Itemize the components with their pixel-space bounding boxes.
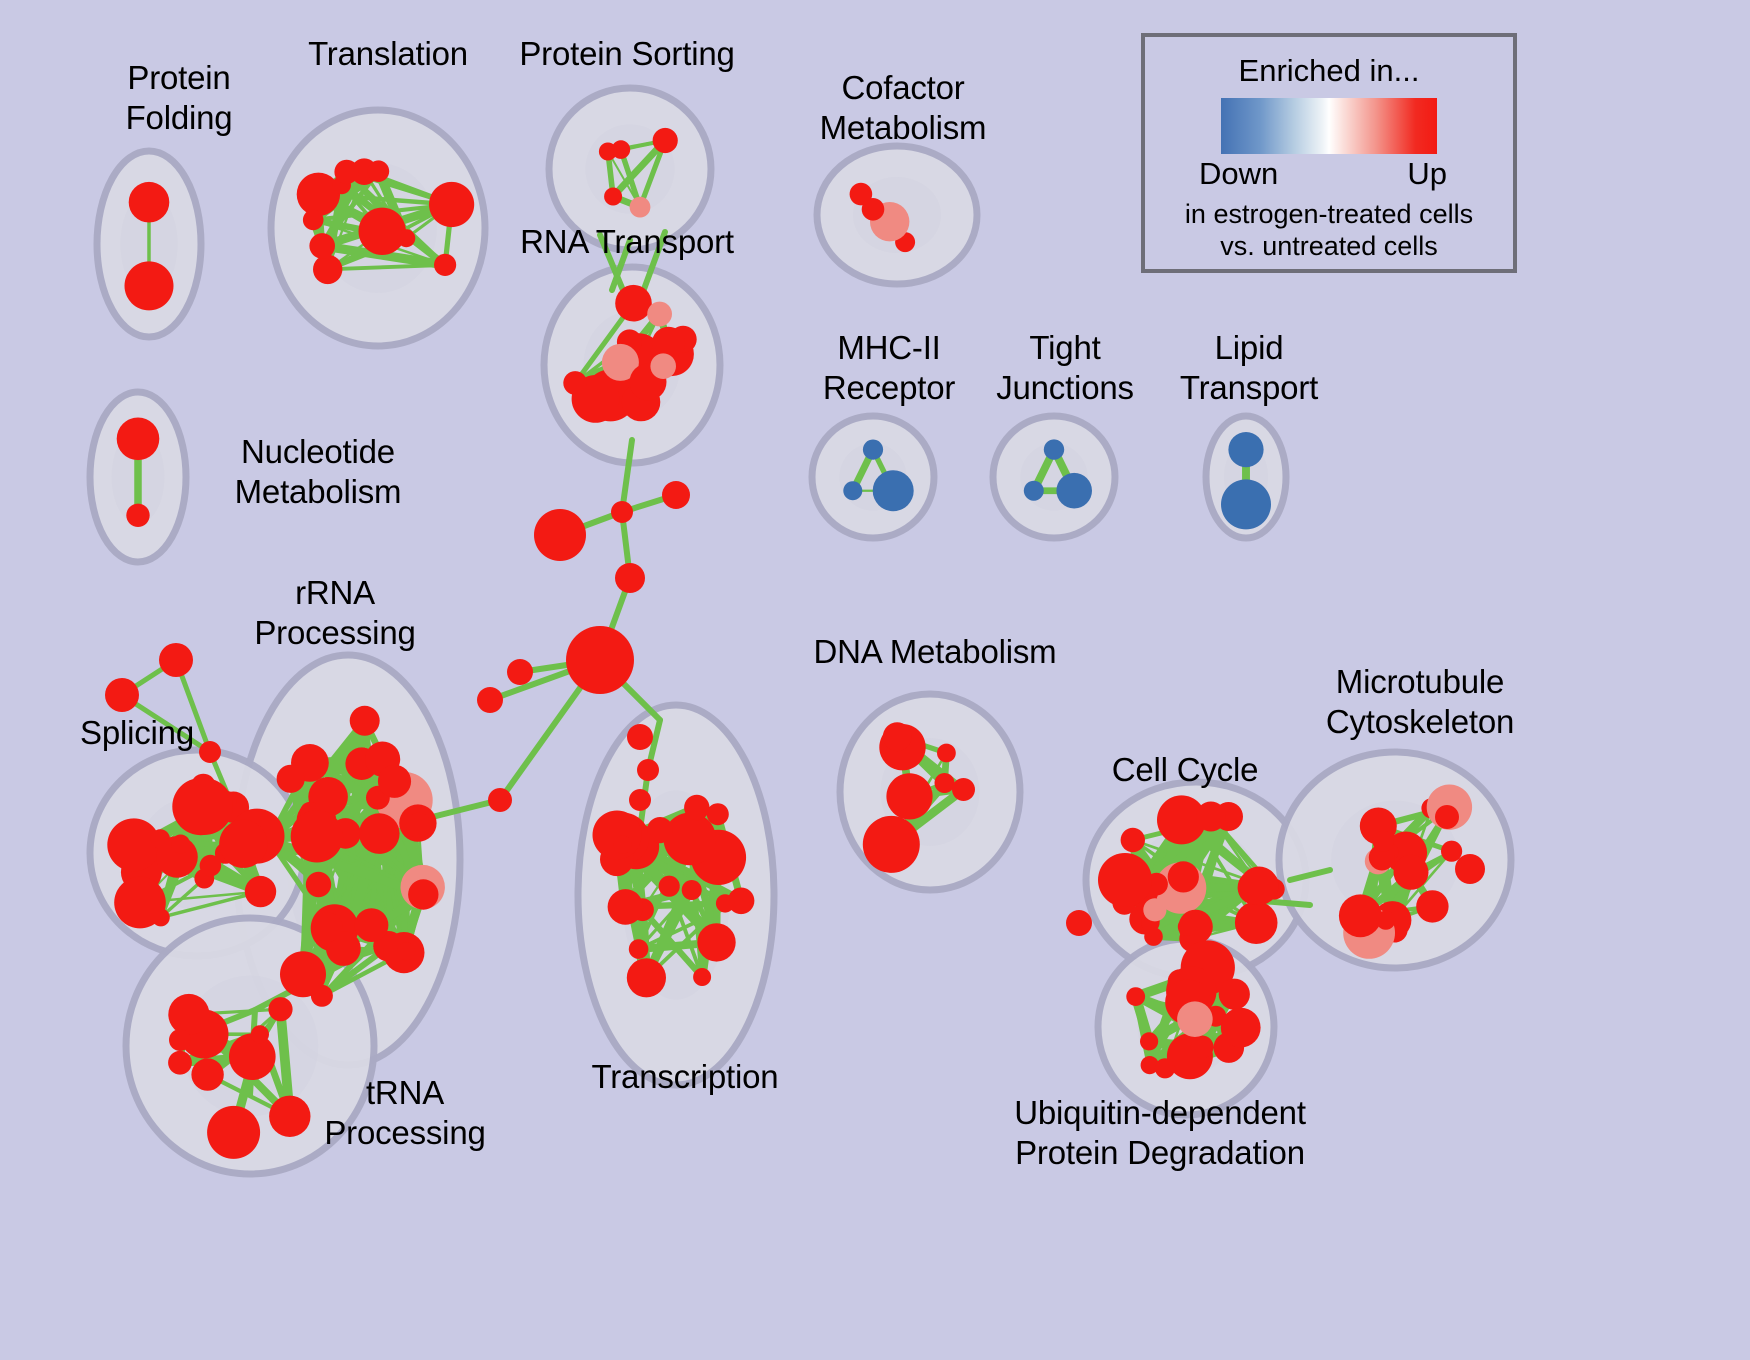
- network-node[interactable]: [615, 285, 652, 322]
- network-node[interactable]: [850, 183, 873, 206]
- network-node[interactable]: [650, 353, 676, 379]
- network-node[interactable]: [313, 912, 343, 942]
- network-node[interactable]: [126, 504, 149, 527]
- network-node[interactable]: [168, 994, 209, 1035]
- cluster-label-tight-junctions: Tight Junctions: [980, 328, 1150, 408]
- network-node[interactable]: [268, 997, 292, 1021]
- network-node[interactable]: [1144, 927, 1163, 946]
- network-node[interactable]: [107, 818, 160, 871]
- network-node[interactable]: [629, 789, 651, 811]
- legend-box: Enriched in... Down Up in estrogen-treat…: [1141, 33, 1517, 273]
- network-node[interactable]: [125, 261, 174, 310]
- network-node[interactable]: [684, 795, 709, 820]
- network-node[interactable]: [355, 908, 389, 942]
- network-node[interactable]: [477, 687, 503, 713]
- network-node[interactable]: [169, 1029, 191, 1051]
- network-node[interactable]: [863, 816, 920, 873]
- network-node[interactable]: [277, 765, 305, 793]
- cluster-label-splicing: Splicing: [62, 713, 212, 753]
- network-node[interactable]: [627, 724, 653, 750]
- cluster-label-cofactor-metabolism: Cofactor Metabolism: [790, 68, 1016, 148]
- network-node[interactable]: [1373, 831, 1394, 852]
- network-node[interactable]: [630, 197, 651, 218]
- network-node[interactable]: [1168, 861, 1199, 892]
- network-node[interactable]: [359, 208, 406, 255]
- network-node[interactable]: [1240, 867, 1279, 906]
- network-node[interactable]: [117, 418, 160, 461]
- network-node[interactable]: [334, 160, 358, 184]
- network-node[interactable]: [309, 233, 335, 259]
- network-node[interactable]: [604, 188, 622, 206]
- network-node[interactable]: [159, 643, 193, 677]
- network-node[interactable]: [1339, 894, 1382, 937]
- network-node[interactable]: [873, 470, 914, 511]
- network-node[interactable]: [886, 773, 932, 819]
- network-node[interactable]: [608, 889, 644, 925]
- network-node[interactable]: [1435, 805, 1459, 829]
- network-node[interactable]: [1143, 898, 1166, 921]
- network-node[interactable]: [105, 678, 139, 712]
- network-node[interactable]: [1121, 828, 1145, 852]
- network-node[interactable]: [397, 229, 415, 247]
- network-node[interactable]: [1235, 901, 1278, 944]
- network-node[interactable]: [313, 255, 342, 284]
- cluster-label-rna-transport: RNA Transport: [500, 222, 754, 262]
- network-node[interactable]: [615, 563, 645, 593]
- network-node[interactable]: [1416, 890, 1448, 922]
- network-node[interactable]: [935, 773, 955, 793]
- network-node[interactable]: [1191, 1036, 1214, 1059]
- network-node[interactable]: [408, 879, 438, 909]
- network-node[interactable]: [269, 1096, 310, 1137]
- network-node[interactable]: [952, 778, 975, 801]
- network-node[interactable]: [1455, 854, 1485, 884]
- network-node[interactable]: [507, 659, 533, 685]
- network-node[interactable]: [397, 942, 415, 960]
- legend-down-label: Down: [1199, 156, 1278, 192]
- network-node[interactable]: [306, 872, 331, 897]
- network-node[interactable]: [488, 788, 512, 812]
- network-node[interactable]: [1044, 439, 1064, 459]
- legend-title: Enriched in...: [1145, 53, 1513, 89]
- network-node[interactable]: [168, 1051, 192, 1075]
- cluster-label-rrna-processing: rRNA Processing: [240, 573, 430, 653]
- legend-up-label: Up: [1407, 156, 1447, 192]
- cluster-label-protein-sorting: Protein Sorting: [500, 34, 754, 74]
- network-node[interactable]: [611, 501, 633, 523]
- network-node[interactable]: [368, 160, 390, 182]
- network-node[interactable]: [297, 173, 340, 216]
- network-node[interactable]: [662, 481, 690, 509]
- network-node[interactable]: [653, 128, 678, 153]
- network-node[interactable]: [1219, 979, 1250, 1010]
- network-node[interactable]: [843, 481, 862, 500]
- legend-subtitle: in estrogen-treated cells vs. untreated …: [1145, 198, 1513, 262]
- network-node[interactable]: [303, 210, 324, 231]
- network-node[interactable]: [693, 968, 711, 986]
- network-node[interactable]: [563, 371, 587, 395]
- network-node[interactable]: [937, 744, 956, 763]
- network-node[interactable]: [664, 813, 717, 866]
- network-node[interactable]: [280, 951, 326, 997]
- network-node[interactable]: [219, 820, 267, 868]
- network-node[interactable]: [659, 876, 680, 897]
- network-node[interactable]: [716, 894, 734, 912]
- network-node[interactable]: [171, 835, 190, 854]
- network-node[interactable]: [566, 626, 634, 694]
- network-node[interactable]: [697, 923, 735, 961]
- network-node[interactable]: [245, 876, 276, 907]
- cluster-label-transcription: Transcription: [570, 1057, 800, 1097]
- network-node[interactable]: [434, 254, 456, 276]
- network-node[interactable]: [682, 880, 702, 900]
- network-node[interactable]: [1155, 1058, 1175, 1078]
- cluster-label-lipid-transport: Lipid Transport: [1160, 328, 1338, 408]
- network-node[interactable]: [1441, 841, 1462, 862]
- legend-colorbar: [1221, 98, 1437, 154]
- network-node[interactable]: [1196, 802, 1226, 832]
- network-node[interactable]: [1140, 1032, 1158, 1050]
- network-node[interactable]: [534, 509, 586, 561]
- cluster-label-nucleotide-metabolism: Nucleotide Metabolism: [198, 432, 438, 512]
- network-node[interactable]: [614, 836, 632, 854]
- network-node[interactable]: [406, 813, 431, 838]
- network-node[interactable]: [1178, 918, 1196, 936]
- network-node[interactable]: [1066, 910, 1092, 936]
- network-node[interactable]: [1177, 1001, 1213, 1037]
- network-figure: Protein Folding Translation Protein Sort…: [0, 0, 1750, 1360]
- network-node[interactable]: [629, 939, 649, 959]
- network-node[interactable]: [1126, 987, 1145, 1006]
- cluster-label-dna-metabolism: DNA Metabolism: [800, 632, 1070, 672]
- network-node[interactable]: [883, 722, 912, 751]
- network-node[interactable]: [200, 855, 222, 877]
- network-node[interactable]: [114, 877, 166, 929]
- network-node[interactable]: [1228, 432, 1263, 467]
- network-node[interactable]: [378, 765, 411, 798]
- network-node[interactable]: [1376, 911, 1395, 930]
- cluster-label-protein-folding: Protein Folding: [84, 58, 274, 138]
- network-node[interactable]: [129, 182, 170, 223]
- network-node[interactable]: [1221, 1008, 1261, 1048]
- network-node[interactable]: [229, 1033, 276, 1080]
- cluster-label-trna-processing: tRNA Processing: [310, 1073, 500, 1153]
- network-node[interactable]: [291, 810, 343, 862]
- network-node[interactable]: [429, 182, 474, 227]
- network-node[interactable]: [1056, 473, 1092, 509]
- cluster-label-microtubule: Microtubule Cytoskeleton: [1290, 662, 1550, 742]
- network-node[interactable]: [1221, 479, 1271, 529]
- network-node[interactable]: [637, 759, 659, 781]
- network-node[interactable]: [207, 1106, 260, 1159]
- network-node[interactable]: [1394, 855, 1429, 890]
- network-node[interactable]: [593, 811, 642, 860]
- cluster-label-cell-cycle: Cell Cycle: [1095, 750, 1275, 790]
- network-node[interactable]: [863, 440, 883, 460]
- network-node[interactable]: [647, 302, 672, 327]
- network-node[interactable]: [1024, 481, 1044, 501]
- network-node[interactable]: [627, 958, 666, 997]
- network-node[interactable]: [599, 143, 617, 161]
- network-node[interactable]: [251, 1025, 269, 1043]
- network-node[interactable]: [707, 803, 729, 825]
- network-node[interactable]: [1098, 853, 1152, 907]
- network-node[interactable]: [350, 706, 380, 736]
- network-node[interactable]: [176, 778, 233, 835]
- network-node[interactable]: [191, 1058, 223, 1090]
- network-node[interactable]: [647, 817, 673, 843]
- cluster-label-ubiquitin: Ubiquitin-dependent Protein Degradation: [1000, 1093, 1320, 1173]
- cluster-label-translation: Translation: [278, 34, 498, 74]
- cluster-label-mhc-ii-receptor: MHC-II Receptor: [795, 328, 983, 408]
- network-node[interactable]: [359, 813, 400, 854]
